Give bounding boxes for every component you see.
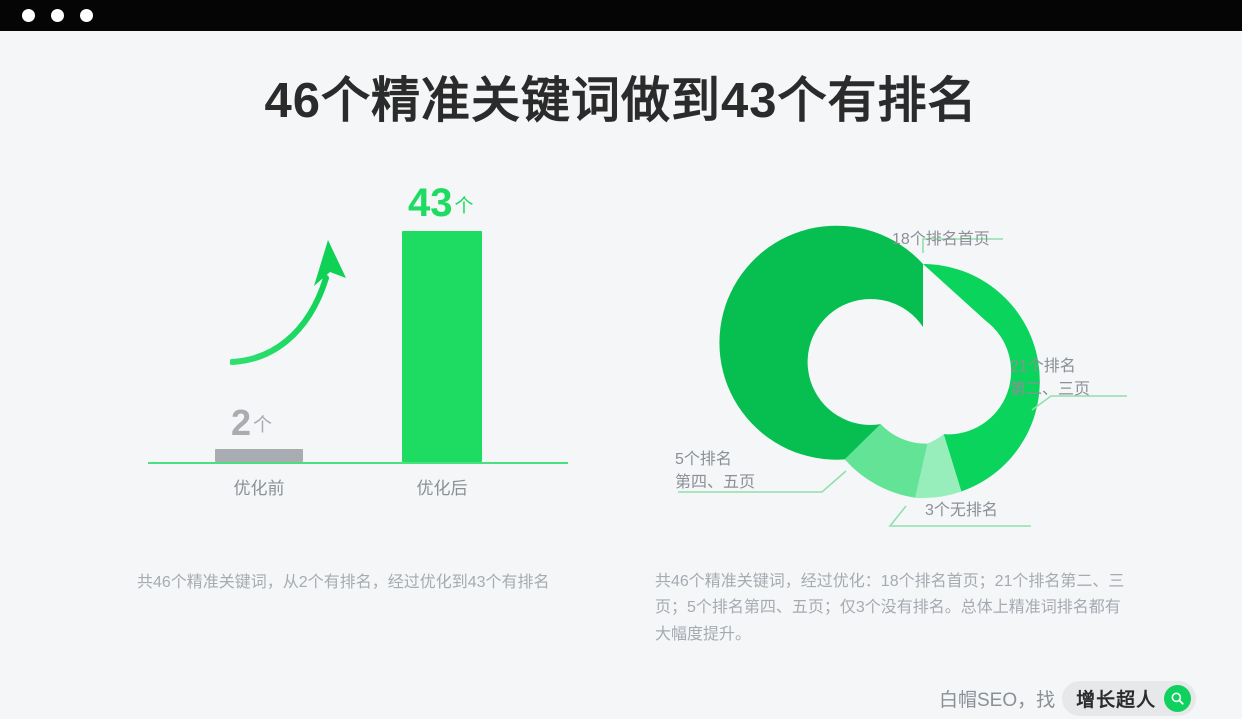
bar-value-after-number: 43 xyxy=(408,183,453,223)
brand-pill[interactable]: 增长超人 xyxy=(1062,681,1196,716)
donut-label-fourth-fifth-page: 5个排名 第四、五页 xyxy=(675,448,755,494)
donut-label-first-page: 18个排名首页 xyxy=(892,228,990,251)
bar-value-before-unit: 个 xyxy=(253,416,272,435)
caption-right: 共46个精准关键词，经过优化：18个排名首页；21个排名第二、三页；5个排名第四… xyxy=(655,569,1125,648)
donut-label-fourth-fifth-page-line2: 第四、五页 xyxy=(675,471,755,494)
caption-left: 共46个精准关键词，从2个有排名，经过优化到43个有排名 xyxy=(137,570,607,596)
presentation-window: 46个精准关键词做到43个有排名 2 个 xyxy=(0,0,1242,719)
bar-category-after: 优化后 xyxy=(376,474,508,499)
brand-pill-label: 增长超人 xyxy=(1076,685,1156,712)
donut-chart: 18个排名首页 21个排名 第二、三页 5个排名 第四、五页 3个无排名 xyxy=(640,181,1160,561)
bar-value-before: 2 个 xyxy=(231,405,272,441)
bar-value-after-unit: 个 xyxy=(455,197,474,216)
bar-category-before: 优化前 xyxy=(193,474,325,499)
brand-prefix: 白帽SEO，找 xyxy=(939,685,1055,712)
slide-canvas: 46个精准关键词做到43个有排名 2 个 xyxy=(0,31,1242,719)
donut-slice-first-page xyxy=(719,226,923,460)
donut-segments xyxy=(719,226,1039,498)
search-icon xyxy=(1164,685,1191,712)
window-dot-close[interactable] xyxy=(22,9,35,22)
bar-baseline xyxy=(148,462,568,464)
bar-value-after: 43 个 xyxy=(408,183,474,223)
bar-value-before-number: 2 xyxy=(231,405,251,441)
brand-footer: 白帽SEO，找 增长超人 xyxy=(939,681,1196,716)
donut-label-second-third-page: 21个排名 第二、三页 xyxy=(1010,355,1090,401)
donut-label-no-rank-line1: 3个无排名 xyxy=(925,499,998,522)
window-dot-minimize[interactable] xyxy=(51,9,64,22)
window-titlebar xyxy=(0,0,1242,31)
bar-after xyxy=(402,231,482,462)
donut-label-no-rank: 3个无排名 xyxy=(925,499,998,522)
donut-label-fourth-fifth-page-line1: 5个排名 xyxy=(675,448,755,471)
bar-before xyxy=(215,449,303,462)
window-dot-maximize[interactable] xyxy=(80,9,93,22)
donut-label-first-page-line1: 18个排名首页 xyxy=(892,228,990,251)
search-icon-glyph xyxy=(1170,691,1185,706)
growth-arrow-icon xyxy=(230,216,370,376)
bar-chart: 2 个 43 个 优化前 优化后 xyxy=(130,181,590,561)
donut-label-second-third-page-line1: 21个排名 xyxy=(1010,355,1090,378)
donut-label-second-third-page-line2: 第二、三页 xyxy=(1010,378,1090,401)
page-title: 46个精准关键词做到43个有排名 xyxy=(0,73,1242,129)
